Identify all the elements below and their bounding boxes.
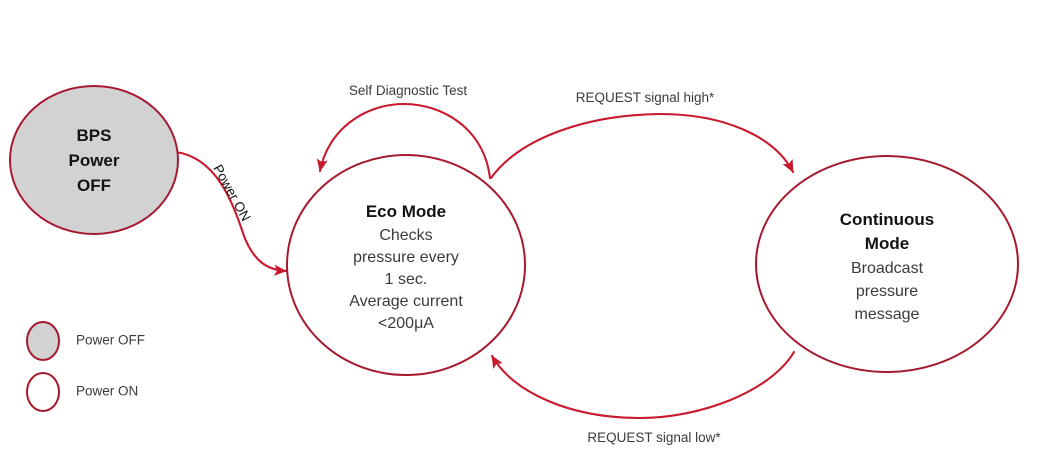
node-eco-mode-body-line-4: Average current [349, 293, 463, 310]
node-continuous-mode-body-line-3: message [855, 306, 920, 323]
node-bps-power-off-title-line-1: BPS [77, 126, 112, 145]
legend-power-on-swatch [27, 373, 59, 411]
edge-power-on: Power ON [176, 152, 286, 271]
edge-request-signal-low-label: REQUEST signal low* [587, 430, 721, 445]
edge-request-signal-high-label: REQUEST signal high* [576, 90, 715, 105]
edge-power-on-label: Power ON [210, 162, 253, 224]
node-eco-mode[interactable]: Eco Mode Checks pressure every 1 sec. Av… [287, 155, 525, 375]
edge-request-signal-low-path [492, 352, 794, 418]
node-bps-power-off-title-line-3: OFF [77, 176, 111, 195]
node-continuous-mode[interactable]: Continuous Mode Broadcast pressure messa… [756, 156, 1018, 372]
legend: Power OFF Power ON [27, 322, 145, 411]
edge-request-signal-high: REQUEST signal high* [491, 90, 793, 178]
edge-request-signal-low: REQUEST signal low* [492, 352, 794, 445]
edge-power-on-path [176, 152, 286, 271]
node-eco-mode-body-line-2: pressure every [353, 249, 459, 266]
legend-item-power-on: Power ON [27, 373, 138, 411]
legend-power-off-swatch [27, 322, 59, 360]
node-continuous-mode-body-line-2: pressure [856, 283, 918, 300]
legend-power-on-label: Power ON [76, 384, 138, 399]
node-eco-mode-body-line-1: Checks [379, 227, 432, 244]
edge-request-signal-high-path [491, 114, 793, 178]
legend-item-power-off: Power OFF [27, 322, 145, 360]
node-eco-mode-title: Eco Mode [366, 202, 446, 221]
node-bps-power-off[interactable]: BPS Power OFF [10, 86, 178, 234]
node-continuous-mode-title-line-2: Mode [865, 234, 909, 253]
node-eco-mode-body-line-3: 1 sec. [385, 271, 428, 288]
node-bps-power-off-title-line-2: Power [68, 151, 119, 170]
node-eco-mode-body-line-5: <200μA [378, 315, 434, 332]
node-layer: BPS Power OFF Eco Mode Checks pressure e… [10, 86, 1018, 375]
legend-power-off-label: Power OFF [76, 333, 145, 348]
node-continuous-mode-title-line-1: Continuous [840, 210, 934, 229]
state-diagram: Power ON Self Diagnostic Test REQUEST si… [0, 0, 1054, 454]
node-continuous-mode-body-line-1: Broadcast [851, 260, 924, 277]
edge-self-diagnostic-test-label: Self Diagnostic Test [349, 83, 468, 98]
